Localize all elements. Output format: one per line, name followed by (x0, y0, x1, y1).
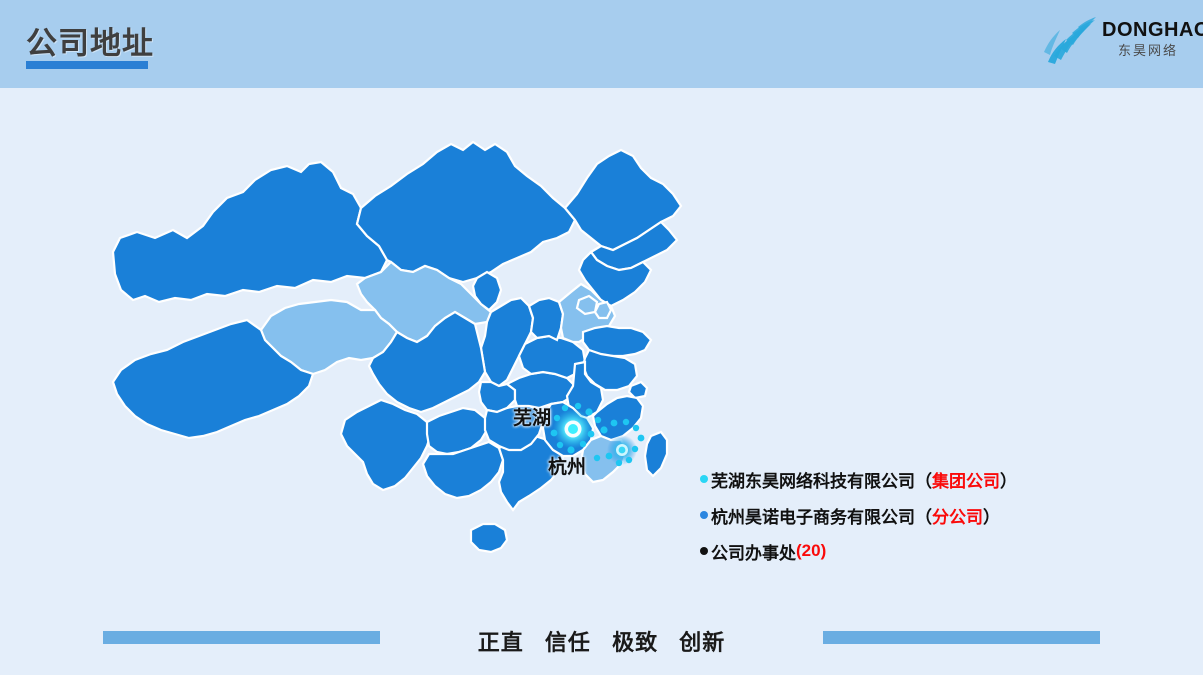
china-map-container: 芜湖 杭州 (95, 120, 715, 620)
slide-canvas: 公司地址 DONGHAO 东昊网络 (0, 0, 1203, 675)
city-label-wuhu: 芜湖 (513, 403, 551, 430)
marker-hangzhou-core[interactable] (619, 447, 626, 454)
slogan-word-4: 创新 (679, 630, 725, 655)
legend-paren-close-0: ） (1000, 467, 1017, 492)
legend-paren-close-1: ） (983, 503, 1000, 528)
legend-tag-branch-company: 分公司 (932, 503, 983, 528)
footer-slogan: 正直 信任 极致 创新 (0, 625, 1203, 657)
legend-item-offices: 公司办事处 (20) (700, 533, 1170, 569)
legend-dot-offices (700, 547, 708, 555)
legend-tag-group-company: 集团公司 (932, 467, 1000, 492)
legend-paren-open-1: （ (915, 503, 932, 528)
slogan-word-2: 信任 (545, 630, 591, 655)
legend-dot-group-company (700, 475, 708, 483)
slide-header: 公司地址 DONGHAO 东昊网络 (0, 0, 1203, 88)
province-shanxi (529, 298, 563, 340)
legend-label-branch-company: 杭州昊诺电子商务有限公司 (711, 503, 915, 528)
legend-item-group-company: 芜湖东昊网络科技有限公司 （ 集团公司 ） (700, 461, 1170, 497)
china-provinces-map (95, 120, 715, 620)
province-hainan (471, 524, 507, 552)
legend-label-group-company: 芜湖东昊网络科技有限公司 (711, 467, 915, 492)
legend-tag-offices-count: (20) (796, 541, 826, 561)
province-inner-mongolia (357, 142, 575, 282)
page-title: 公司地址 (26, 18, 154, 63)
province-taiwan (645, 432, 667, 476)
province-beijing (577, 296, 597, 314)
province-shanghai (629, 382, 647, 398)
logo-text-block: DONGHAO 东昊网络 (1102, 18, 1194, 60)
logo-english-name: DONGHAO (1102, 18, 1194, 42)
city-label-hangzhou: 杭州 (548, 452, 586, 479)
province-xinjiang (113, 162, 387, 302)
province-yunnan (341, 400, 431, 490)
legend-dot-branch-company (700, 511, 708, 519)
legend-list: 芜湖东昊网络科技有限公司 （ 集团公司 ） 杭州昊诺电子商务有限公司 （ 分公司… (700, 461, 1170, 569)
title-underline-bar (26, 61, 148, 69)
feather-wing-mark-icon (1042, 12, 1100, 75)
company-logo: DONGHAO 东昊网络 (1040, 8, 1195, 78)
slogan-word-3: 极致 (612, 630, 658, 655)
marker-wuhu-core[interactable] (568, 424, 578, 434)
legend-paren-open-0: （ (915, 467, 932, 492)
logo-chinese-name: 东昊网络 (1102, 42, 1194, 60)
legend-item-branch-company: 杭州昊诺电子商务有限公司 （ 分公司 ） (700, 497, 1170, 533)
legend-label-offices: 公司办事处 (711, 539, 796, 564)
slogan-word-1: 正直 (478, 630, 524, 655)
